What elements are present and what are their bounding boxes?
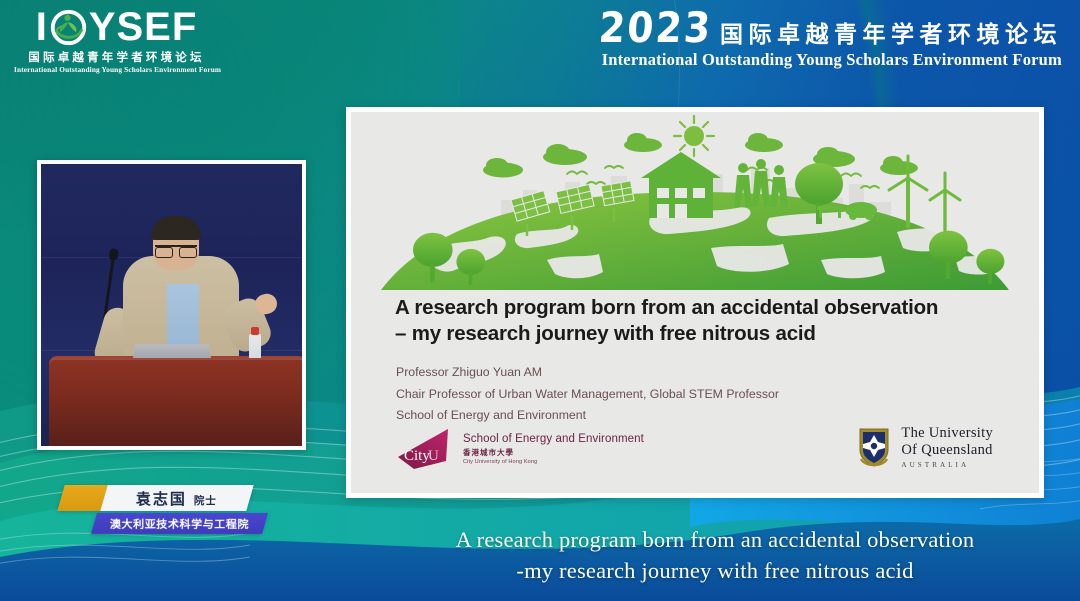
speaker-rank: 院士 [195, 493, 218, 508]
slide-title: A research program born from an accident… [395, 295, 995, 347]
event-header: I YSEF 国际卓越青年学者环境论坛 International Outsta… [0, 0, 1080, 84]
cityu-school-name: School of Energy and Environment [463, 433, 644, 446]
eyeglasses-icon [155, 245, 197, 254]
slide-content: A research program born from an accident… [351, 112, 1039, 493]
uq-shield-icon [857, 426, 891, 468]
logo-chinese-name: 国际卓越青年学者环境论坛 [14, 51, 219, 65]
svg-text:City: City [404, 448, 430, 464]
uq-country: AUSTRALIA [901, 461, 993, 469]
cityu-chinese-name: 香港城市大學 [463, 449, 644, 458]
event-year: 2023 [597, 8, 713, 48]
leaf-person-circle-icon [50, 9, 87, 46]
speaker-name-row: 袁志国 院士 [61, 485, 265, 511]
banner-white-plate: 袁志国 院士 [100, 485, 253, 511]
speaker-video-inner: 袁志国 [41, 164, 302, 446]
green-earth-eco-illustration [351, 112, 1039, 292]
slide-subtitle: Professor Zhiguo Yuan AM Chair Professor… [396, 362, 956, 427]
logo-wordmark: I YSEF [14, 6, 219, 48]
uq-name-line-2: Of Queensland [901, 442, 993, 459]
slide-subtitle-line-1: Professor Zhiguo Yuan AM [396, 362, 956, 384]
uq-name-line-1: The University [901, 425, 993, 442]
session-caption: A research program born from an accident… [390, 524, 1040, 586]
speaker-video-tile[interactable]: 袁志国 [37, 160, 306, 450]
svg-text:U: U [428, 448, 439, 464]
caption-line-1: A research program born from an accident… [390, 524, 1040, 555]
speaker-name: 袁志国 [136, 488, 187, 509]
caption-line-2: -my research journey with free nitrous a… [390, 555, 1040, 586]
slide-title-line-2: – my research journey with free nitrous … [395, 321, 995, 347]
podium [49, 358, 302, 446]
logo-letter-i: I [36, 6, 48, 48]
slide-subtitle-line-3: School of Energy and Environment [396, 405, 956, 427]
speaker-name-banner: 袁志国 院士 澳大利亚技术科学与工程院 [61, 485, 265, 534]
slide-logo-row: City U School of Energy and Environment … [351, 425, 1039, 487]
slide-title-line-1: A research program born from an accident… [395, 295, 995, 321]
event-title-block: 2023 国际卓越青年学者环境论坛 International Outstand… [599, 8, 1062, 69]
event-title-english: International Outstanding Young Scholars… [599, 50, 1062, 69]
forum-logo: I YSEF 国际卓越青年学者环境论坛 International Outsta… [14, 6, 219, 75]
logo-english-name: International Outstanding Young Scholars… [14, 65, 219, 75]
cityu-english-name: City University of Hong Kong [463, 459, 644, 465]
presentation-stream-frame: I YSEF 国际卓越青年学者环境论坛 International Outsta… [0, 0, 1080, 601]
speaker-affiliation-plate: 澳大利亚技术科学与工程院 [91, 513, 268, 534]
logo-letters-ysef: YSEF [89, 6, 197, 48]
event-title-chinese: 国际卓越青年学者环境论坛 [720, 20, 1062, 48]
speaker-affiliation: 澳大利亚技术科学与工程院 [110, 516, 249, 532]
cityu-mark-icon: City U [396, 427, 454, 471]
presentation-slide[interactable]: A research program born from an accident… [346, 107, 1044, 498]
uq-logo: The University Of Queensland AUSTRALIA [857, 425, 993, 470]
cityu-logo: City U School of Energy and Environment … [396, 427, 644, 471]
slide-subtitle-line-2: Chair Professor of Urban Water Managemen… [396, 384, 956, 406]
